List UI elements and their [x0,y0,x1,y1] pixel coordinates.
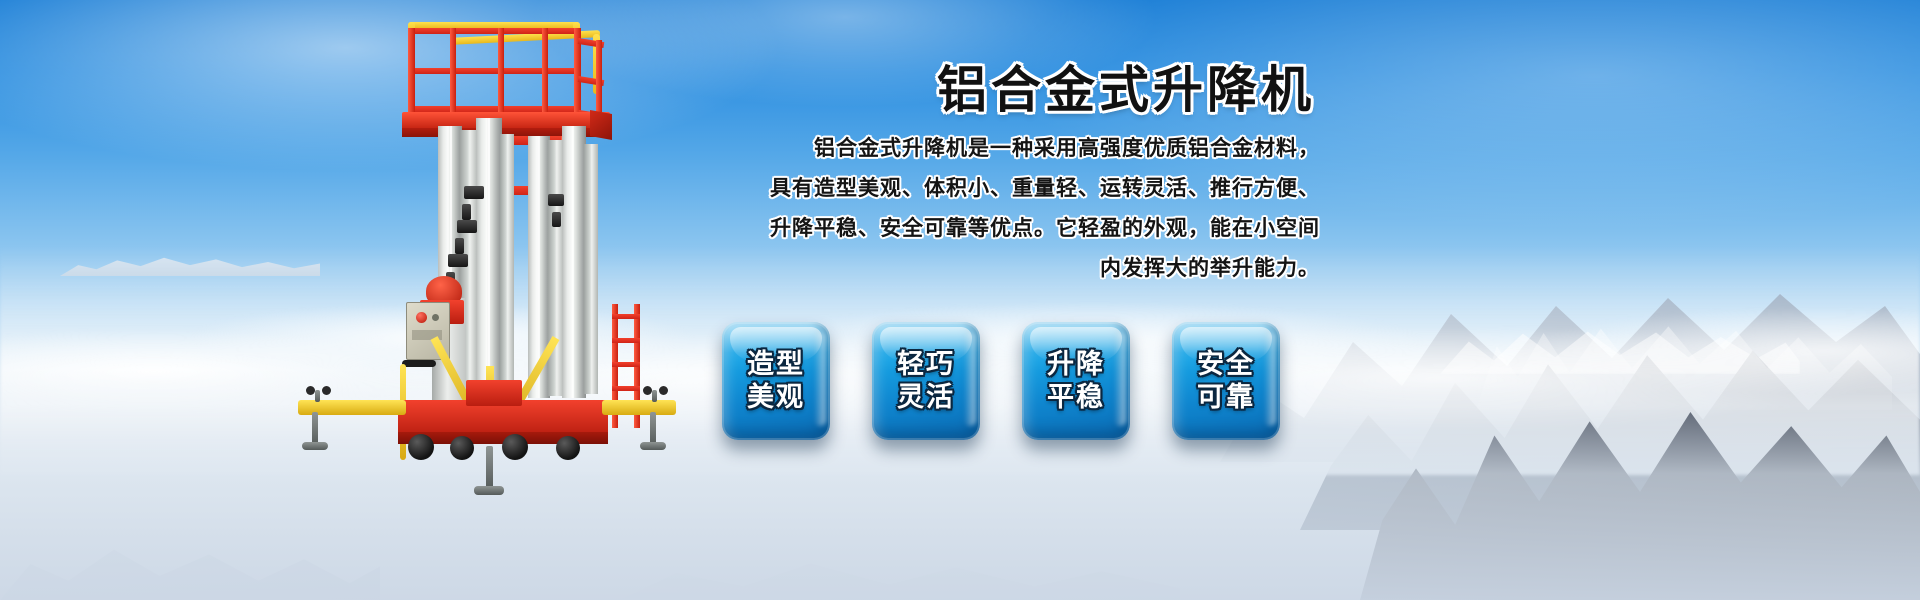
page-title: 铝合金式升降机 [937,50,1315,122]
badge-line-2: 平稳 [1047,381,1105,414]
product-description: 铝合金式升降机是一种采用高强度优质铝合金材料， 具有造型美观、体积小、重量轻、运… [680,128,1320,288]
mast-column-8 [584,144,598,394]
badge-line-1: 升降 [1047,348,1105,381]
product-hero-banner: 铝合金式升降机 铝合金式升降机是一种采用高强度优质铝合金材料， 具有造型美观、体… [0,0,1920,600]
caster-wheel [408,434,434,460]
caster-wheel [450,436,474,460]
badge-line-1: 安全 [1197,348,1255,381]
product-image-aluminum-lift [290,8,690,498]
mast-column-4 [500,134,514,400]
description-line: 升降平稳、安全可靠等优点。它轻盈的外观，能在小空间 [680,208,1320,248]
badge-line-1: 造型 [747,348,805,381]
badge-line-2: 可靠 [1197,381,1255,414]
feature-badge-lightweight-flexible[interactable]: 轻巧 灵活 [872,322,980,440]
description-line: 铝合金式升降机是一种采用高强度优质铝合金材料， [680,128,1320,168]
badge-line-2: 美观 [747,381,805,414]
description-line: 具有造型美观、体积小、重量轻、运转灵活、推行方便、 [680,168,1320,208]
badge-line-2: 灵活 [897,381,955,414]
feature-badge-safe-reliable[interactable]: 安全 可靠 [1172,322,1280,440]
description-line: 内发挥大的举升能力。 [680,248,1320,288]
feature-badge-row: 造型 美观 轻巧 灵活 升降 平稳 安全 可靠 [722,322,1280,440]
feature-badge-smooth-lifting[interactable]: 升降 平稳 [1022,322,1130,440]
badge-label: 造型 美观 [747,348,805,414]
badge-label: 安全 可靠 [1197,348,1255,414]
badge-label: 轻巧 灵活 [897,348,955,414]
mast-column-7 [562,126,586,398]
caster-wheel [502,434,528,460]
feature-badge-design-aesthetics[interactable]: 造型 美观 [722,322,830,440]
caster-wheel [556,436,580,460]
banner-copy-block: 铝合金式升降机 铝合金式升降机是一种采用高强度优质铝合金材料， 具有造型美观、体… [640,0,1360,520]
badge-label: 升降 平稳 [1047,348,1105,414]
badge-line-1: 轻巧 [897,348,955,381]
